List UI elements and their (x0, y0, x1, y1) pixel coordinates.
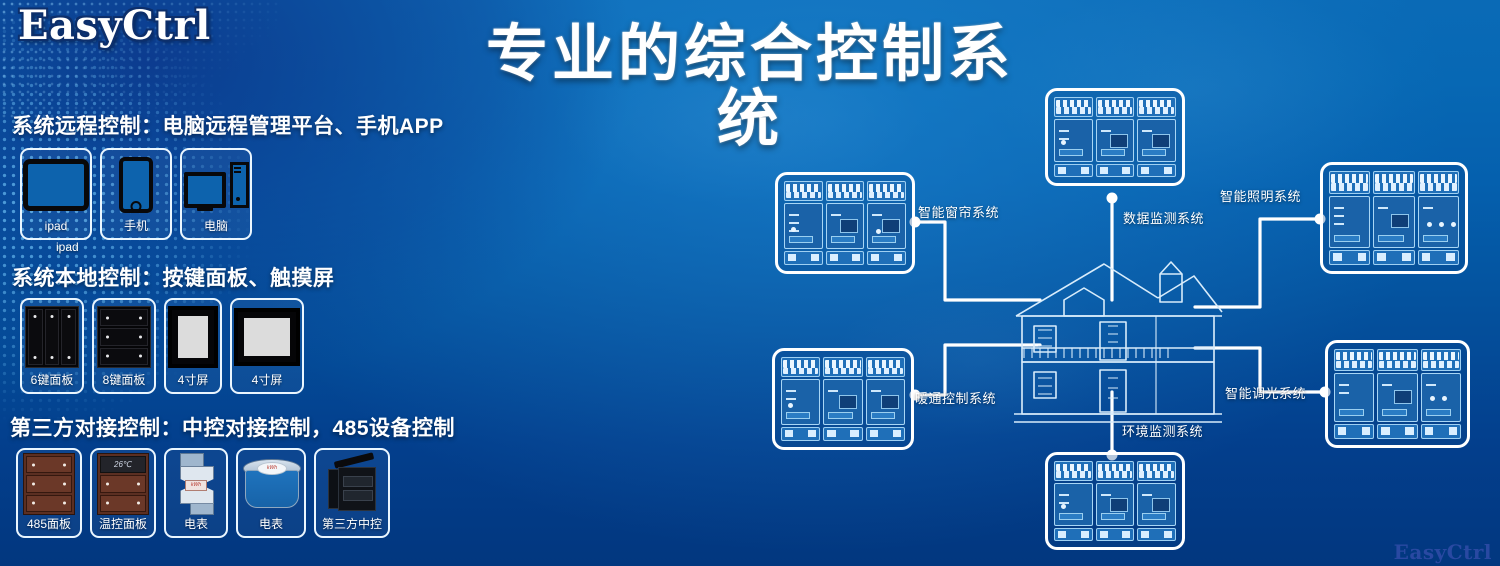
panel-card-4inch-screen-wide[interactable]: 4寸屏 (230, 298, 304, 394)
device-card-caption: 电表 (259, 518, 283, 531)
module-environment-monitoring-system[interactable] (1045, 452, 1185, 550)
device-card-caption: 485面板 (27, 518, 71, 531)
round-meter-label: kWh (257, 462, 287, 475)
wire-node (1107, 193, 1118, 204)
section-title-third-party: 第三方对接控制：中控对接控制，485设备控制 (10, 412, 455, 442)
panel-card-caption: 4寸屏 (178, 374, 209, 387)
eight-key-panel-icon (94, 300, 154, 374)
remote-control-card-row: ipad 手机 电脑 (20, 148, 252, 240)
six-key-panel-icon (22, 300, 82, 374)
watermark-logo: EasyCtrl (1394, 540, 1492, 564)
panel-card-6key[interactable]: 6键面板 (20, 298, 84, 394)
panel-card-caption: 8键面板 (103, 374, 146, 387)
device-card-caption: 第三方中控 (322, 518, 382, 531)
rs485-panel-icon (18, 450, 80, 518)
desktop-computer-icon (182, 150, 250, 220)
device-card-caption: ipad (45, 220, 68, 233)
local-control-card-row: 6键面板 8键面板 4寸屏 4寸屏 (20, 298, 304, 394)
module-curtain-system[interactable] (775, 172, 915, 274)
device-card-485-panel[interactable]: 485面板 (16, 448, 82, 538)
round-meter-icon: kWh (238, 450, 304, 518)
device-card-caption: 电脑 (204, 220, 228, 233)
label-curtain-system: 智能窗帘系统 (918, 202, 999, 221)
module-lighting-system[interactable] (1320, 162, 1468, 274)
device-card-phone[interactable]: 手机 (100, 148, 172, 240)
tablet-icon (22, 150, 90, 220)
third-party-central-control-icon (316, 450, 388, 518)
poster-canvas: EasyCtrl 专业的综合控制系统 系统远程控制：电脑远程管理平台、手机APP… (0, 0, 1500, 566)
device-card-round-meter[interactable]: kWh 电表 (236, 448, 306, 538)
thermostat-panel-icon: 26℃ (92, 450, 154, 518)
module-dimming-system[interactable] (1325, 340, 1470, 448)
label-environment-monitoring-system: 环境监测系统 (1122, 421, 1203, 440)
thermostat-display: 26℃ (100, 456, 146, 473)
four-inch-screen-wide-icon (232, 300, 302, 374)
label-lighting-system: 智能照明系统 (1220, 186, 1301, 205)
section-title-remote-control: 系统远程控制：电脑远程管理平台、手机APP (12, 110, 444, 140)
panel-card-8key[interactable]: 8键面板 (92, 298, 156, 394)
section-title-local-control: 系统本地控制：按键面板、触摸屏 (12, 262, 335, 292)
panel-card-4inch-screen[interactable]: 4寸屏 (164, 298, 222, 394)
label-dimming-system: 智能调光系统 (1225, 383, 1306, 402)
device-card-energy-meter[interactable]: kWh 电表 (164, 448, 228, 538)
label-hvac-system: 暖通控制系统 (915, 388, 996, 407)
device-card-caption: 电表 (184, 518, 208, 531)
smartphone-icon (102, 150, 170, 220)
module-data-monitoring-system[interactable] (1045, 88, 1185, 186)
brand-logo: EasyCtrl (18, 2, 211, 49)
device-card-ipad[interactable]: ipad (20, 148, 92, 240)
third-party-card-row: 485面板 26℃ 温控面板 kWh 电表 (16, 448, 390, 538)
panel-card-caption: 4寸屏 (252, 374, 283, 387)
device-card-caption: 温控面板 (99, 518, 147, 531)
energy-meter-icon: kWh (166, 450, 226, 518)
device-card-third-party-central[interactable]: 第三方中控 (314, 448, 390, 538)
meter-label: kWh (185, 480, 207, 491)
device-card-caption: 手机 (124, 220, 148, 233)
module-hvac-system[interactable] (772, 348, 914, 450)
label-data-monitoring-system: 数据监测系统 (1123, 208, 1204, 227)
panel-card-caption: 6键面板 (31, 374, 74, 387)
house-illustration (1008, 250, 1228, 425)
device-card-computer[interactable]: 电脑 (180, 148, 252, 240)
four-inch-screen-icon (166, 300, 220, 374)
ipad-sub-caption: ipad (56, 240, 79, 254)
system-topology-diagram: 智能窗帘系统 数据监测系统 智能照明系统 (740, 0, 1500, 566)
device-card-thermostat-panel[interactable]: 26℃ 温控面板 (90, 448, 156, 538)
